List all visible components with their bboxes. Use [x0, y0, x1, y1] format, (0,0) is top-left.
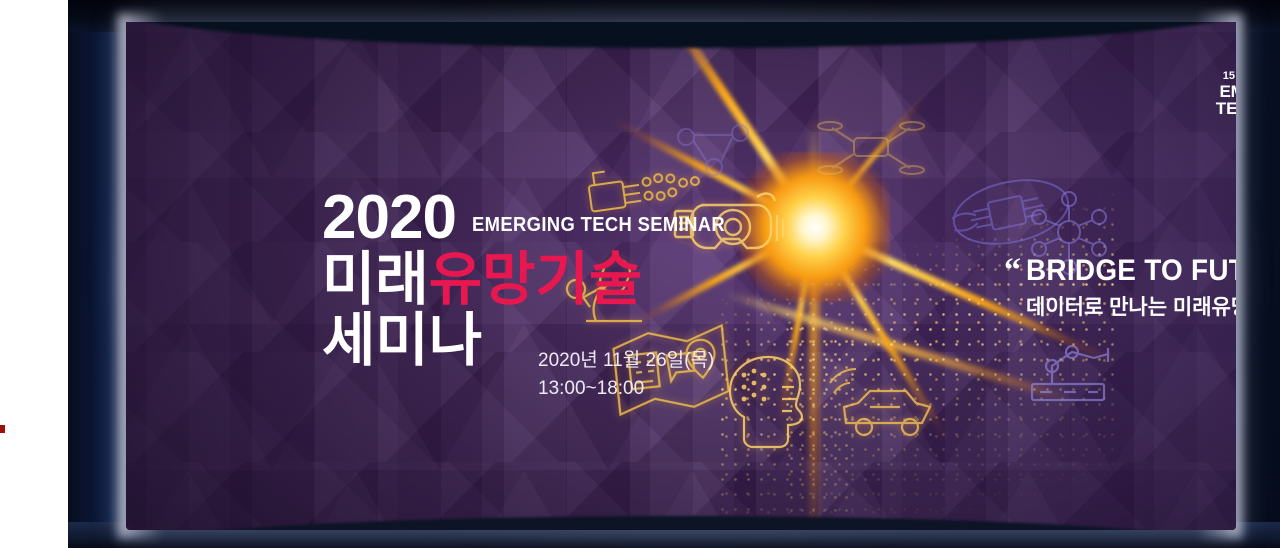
seminar-subtitle-en: EMERGING TECH SEMINAR	[472, 214, 725, 237]
logo-line-tech-seminar: TECH SEMINAR	[1206, 100, 1236, 117]
robot-arm-icon	[1016, 322, 1131, 407]
led-screen: 2020 EMERGING TECH SEMINAR 미래유망기술 세미나 20…	[126, 22, 1236, 530]
logo-year: 2020	[1206, 118, 1236, 131]
event-date: 2020년 11월 26일(목)	[538, 347, 714, 375]
tagline-english: BRIDGE TO FUTURE	[1026, 254, 1236, 288]
logo-edition-number: 15	[1223, 70, 1235, 82]
logo-line-tech: TECH	[1216, 100, 1236, 117]
logo-edition-row: 15 th 미래유망기술세미나	[1206, 70, 1236, 82]
event-datetime: 2020년 11월 26일(목) 13:00~18:00	[538, 347, 714, 402]
event-time: 13:00~18:00	[538, 375, 714, 403]
seminar-logo: 15 th 미래유망기술세미나 EMERGING TECH SEMINAR 20…	[1206, 70, 1236, 131]
connected-car-icon	[826, 367, 946, 447]
red-marker	[0, 425, 5, 433]
quote-open-icon: “	[1004, 252, 1021, 290]
stage-photo: 2020 EMERGING TECH SEMINAR 미래유망기술 세미나 20…	[0, 0, 1280, 548]
year-heading: 2020	[322, 190, 456, 246]
tagline-korean: 데이터로 만나는 미래유망기술	[1026, 291, 1236, 321]
network-node-icon	[666, 117, 766, 187]
title-line-1: 미래유망기술	[322, 250, 742, 309]
logo-line-emerging: EMERGING	[1206, 83, 1236, 100]
title-ko-white: 미래	[322, 247, 429, 312]
headline-block: 2020 EMERGING TECH SEMINAR 미래유망기술 세미나	[322, 190, 742, 370]
left-white-margin	[0, 0, 68, 548]
drone-icon	[816, 112, 926, 182]
tagline-block: “ BRIDGE TO FUTURE 데이터로 만나는 미래유망기술 ”	[1026, 254, 1236, 321]
title-ko-magenta: 유망기술	[429, 247, 642, 312]
